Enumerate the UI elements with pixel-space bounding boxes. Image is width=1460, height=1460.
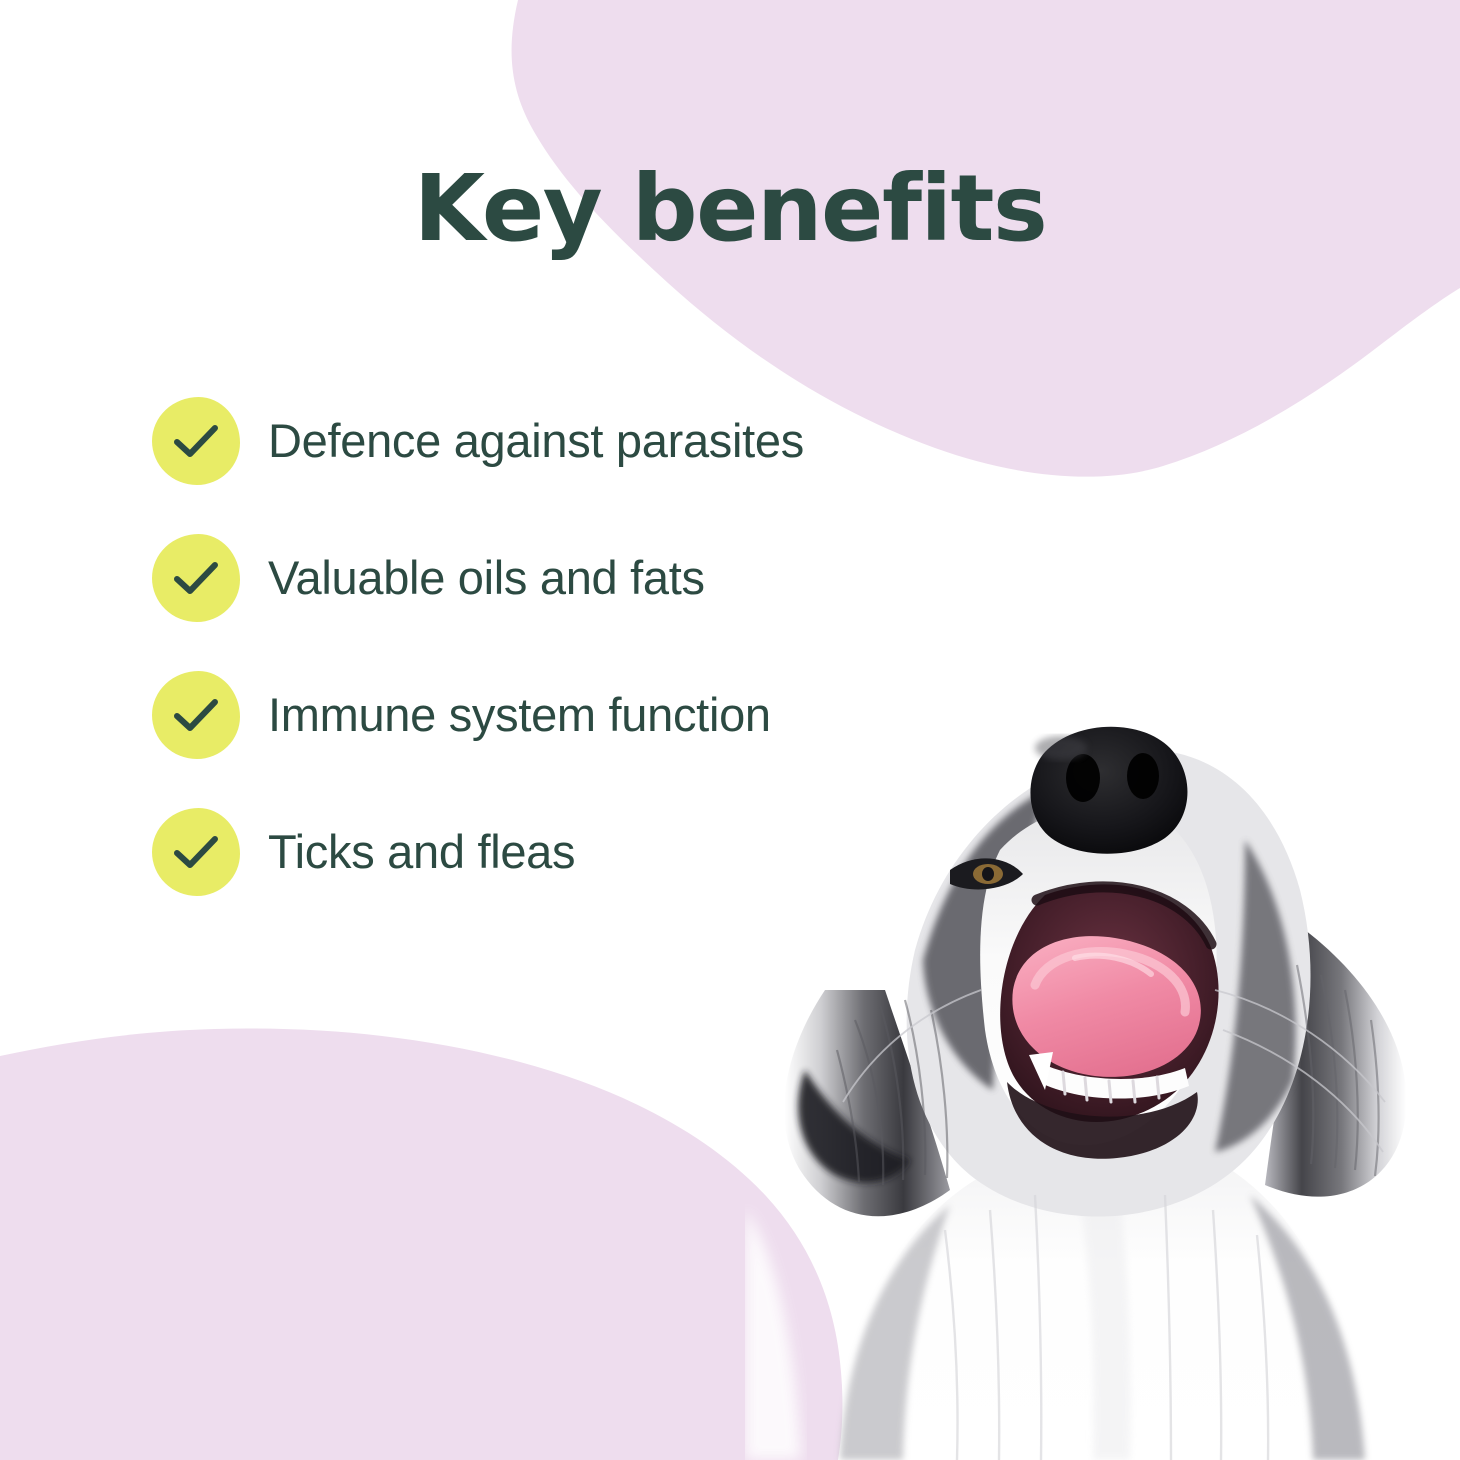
pink-blob-bottom-left bbox=[0, 1029, 842, 1460]
benefit-label: Ticks and fleas bbox=[268, 808, 575, 896]
dog-photo bbox=[745, 690, 1460, 1460]
benefit-label: Valuable oils and fats bbox=[268, 534, 705, 622]
list-item: Valuable oils and fats bbox=[152, 534, 972, 671]
benefit-label: Defence against parasites bbox=[268, 397, 804, 485]
check-icon bbox=[152, 397, 240, 485]
page-title: Key benefits bbox=[0, 163, 1460, 255]
promo-graphic: Key benefits Defence against parasites V… bbox=[0, 0, 1460, 1460]
list-item: Defence against parasites bbox=[152, 397, 972, 534]
check-icon bbox=[152, 808, 240, 896]
check-icon bbox=[152, 534, 240, 622]
benefit-label: Immune system function bbox=[268, 671, 771, 759]
check-icon bbox=[152, 671, 240, 759]
